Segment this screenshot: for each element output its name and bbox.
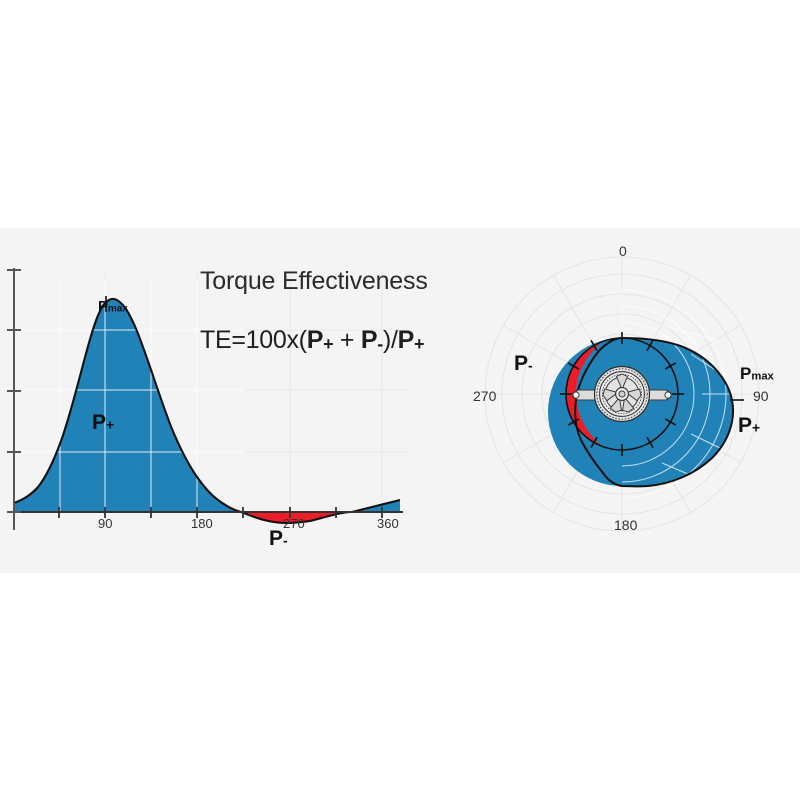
page-title: Torque Effectiveness: [200, 267, 428, 296]
formula-term1-sub: +: [323, 334, 333, 354]
polar-angle-label-270: 270: [473, 388, 496, 404]
polar-pplus-letter: P: [738, 414, 752, 437]
pmax-letter: P: [98, 298, 108, 315]
figure-root: Torque Effectiveness TE=100x(P+ + P-)/P+…: [0, 0, 800, 800]
polar-pminus-subscript: -: [528, 358, 533, 374]
pplus-letter: P: [92, 411, 106, 434]
line-chart-pmax-label: Pmax: [98, 298, 128, 315]
polar-pmax-letter: P: [740, 364, 751, 383]
formula-term2: P: [361, 326, 377, 354]
x-tick-label-360: 360: [377, 516, 399, 531]
polar-pmax-subscript: max: [751, 371, 773, 383]
polar-chart-svg: [0, 0, 800, 800]
formula-term3: P: [398, 326, 414, 354]
formula-plus: +: [333, 326, 361, 354]
polar-angle-label-90: 90: [753, 388, 769, 404]
formula-term3-sub: +: [414, 334, 424, 354]
pplus-subscript: +: [106, 417, 114, 433]
pminus-letter: P: [269, 527, 283, 550]
polar-pminus-letter: P: [514, 352, 528, 375]
x-tick-label-180: 180: [191, 516, 213, 531]
polar-ppositive-label: P+: [738, 414, 760, 438]
polar-pplus-subscript: +: [752, 420, 760, 436]
x-tick-label-270: 270: [283, 516, 305, 531]
polar-angle-label-180: 180: [614, 517, 637, 533]
polar-pmax-label: Pmax: [740, 364, 774, 384]
polar-angle-label-0: 0: [619, 243, 627, 259]
pmax-subscript: max: [108, 303, 128, 314]
te-formula: TE=100x(P+ + P-)/P+: [200, 326, 424, 355]
line-chart-ppositive-label: P+: [92, 411, 114, 435]
formula-prefix: TE=100x(: [200, 326, 307, 354]
polar-pnegative-label: P-: [514, 352, 533, 376]
pminus-subscript: -: [283, 533, 288, 549]
formula-term1: P: [307, 326, 323, 354]
x-tick-label-90: 90: [98, 516, 112, 531]
formula-mid: )/: [383, 326, 398, 354]
